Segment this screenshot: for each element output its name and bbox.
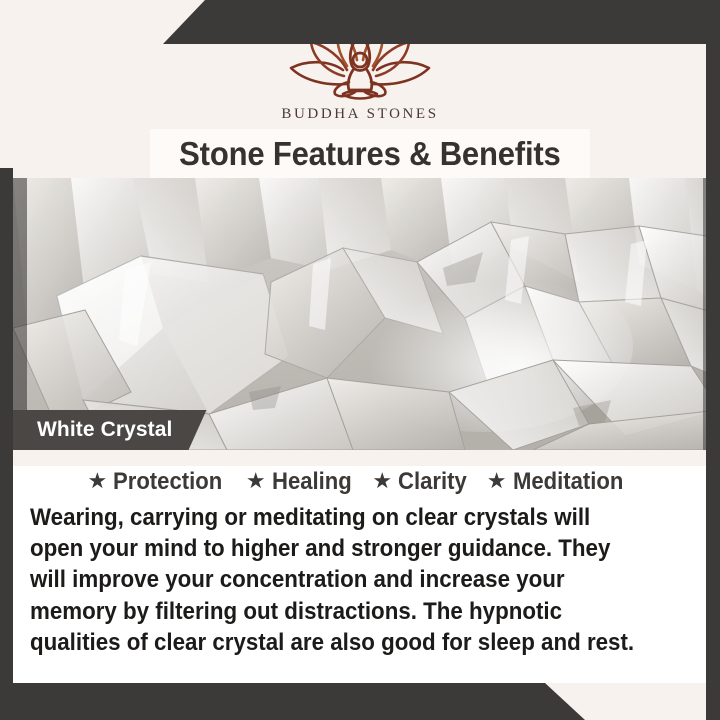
star-icon: ★ xyxy=(487,470,507,492)
star-icon: ★ xyxy=(246,470,266,492)
benefit-item-healing: ★ Healing xyxy=(246,468,358,496)
star-icon: ★ xyxy=(87,470,107,492)
benefit-item-meditation: ★ Meditation xyxy=(487,468,633,496)
benefits-row: ★ Protection ★ Healing ★ Clarity ★ Medit… xyxy=(13,468,707,496)
benefit-label: Meditation xyxy=(513,468,623,496)
photo-caption-tag: White Crystal xyxy=(13,410,207,450)
benefit-label: Protection xyxy=(113,468,222,496)
frame-right-bar xyxy=(706,0,720,720)
cream-divider-strip xyxy=(13,450,707,466)
benefit-label: Healing xyxy=(272,468,352,496)
content-area: ★ Protection ★ Healing ★ Clarity ★ Medit… xyxy=(13,450,707,683)
benefit-item-protection: ★ Protection xyxy=(87,468,231,496)
description-paragraph: Wearing, carrying or meditating on clear… xyxy=(30,502,646,658)
photo-caption-label: White Crystal xyxy=(37,418,173,442)
frame-bottom-bar xyxy=(0,683,720,720)
title-banner: Stone Features & Benefits xyxy=(150,129,590,178)
star-icon: ★ xyxy=(372,470,392,492)
infographic-card: BUDDHA STONES Stone Features & Benefits xyxy=(0,0,720,720)
crystal-cluster-illustration xyxy=(13,178,720,450)
page-title: Stone Features & Benefits xyxy=(179,135,560,173)
benefit-label: Clarity xyxy=(398,468,467,496)
brand-name: BUDDHA STONES xyxy=(0,106,720,123)
frame-left-bar xyxy=(0,168,13,720)
crystal-photo: White Crystal xyxy=(13,178,720,450)
benefit-item-clarity: ★ Clarity xyxy=(372,468,472,496)
